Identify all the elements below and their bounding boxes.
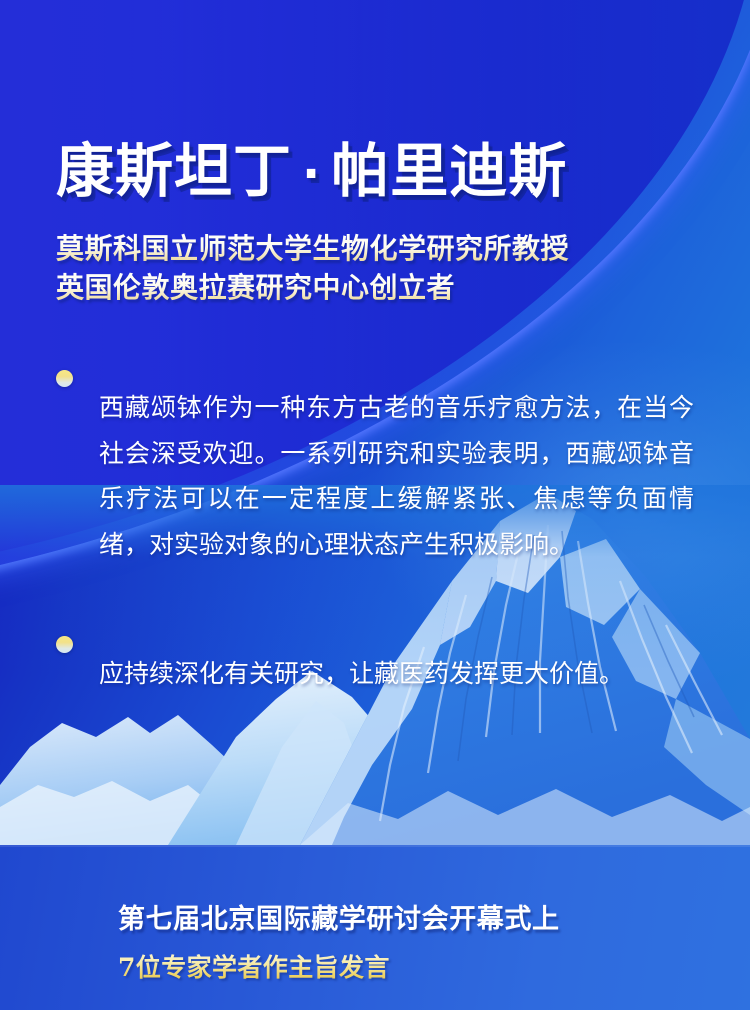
list-item: 应持续深化有关研究，让藏医药发挥更大价值。: [56, 626, 694, 722]
list-item: 西藏颂钵作为一种东方古老的音乐疗愈方法，在当今社会深受欢迎。一系列研究和实验表明…: [56, 360, 694, 592]
credentials-block: 莫斯科国立师范大学生物化学研究所教授 英国伦敦奥拉赛研究中心创立者: [56, 229, 694, 309]
page-title: 康斯坦丁·帕里迪斯: [56, 0, 694, 203]
footer-headline: 第七届北京国际藏学研讨会开幕式上: [118, 897, 750, 936]
bullet-dot-icon: [56, 370, 73, 387]
poster-canvas: 康斯坦丁·帕里迪斯 莫斯科国立师范大学生物化学研究所教授 英国伦敦奥拉赛研究中心…: [0, 0, 750, 1010]
title-last-name: 帕里迪斯: [331, 137, 567, 205]
footer-band: 第七届北京国际藏学研讨会开幕式上 7位专家学者作主旨发言: [0, 845, 750, 1010]
footer-subline: 7位专家学者作主旨发言: [118, 948, 750, 984]
title-first-name: 康斯坦丁: [56, 137, 292, 205]
bullet-list: 西藏颂钵作为一种东方古老的音乐疗愈方法，在当今社会深受欢迎。一系列研究和实验表明…: [56, 360, 694, 722]
bullet-text: 应持续深化有关研究，让藏医药发挥更大价值。: [99, 651, 694, 697]
poster-content: 康斯坦丁·帕里迪斯 莫斯科国立师范大学生物化学研究所教授 英国伦敦奥拉赛研究中心…: [0, 0, 750, 756]
bullet-dot-icon: [56, 636, 73, 653]
title-separator: ·: [292, 146, 331, 202]
credential-line-2: 英国伦敦奥拉赛研究中心创立者: [56, 268, 694, 308]
bullet-text: 西藏颂钵作为一种东方古老的音乐疗愈方法，在当今社会深受欢迎。一系列研究和实验表明…: [99, 385, 694, 567]
footer-content: 第七届北京国际藏学研讨会开幕式上 7位专家学者作主旨发言: [0, 845, 750, 984]
credential-line-1: 莫斯科国立师范大学生物化学研究所教授: [56, 229, 694, 269]
